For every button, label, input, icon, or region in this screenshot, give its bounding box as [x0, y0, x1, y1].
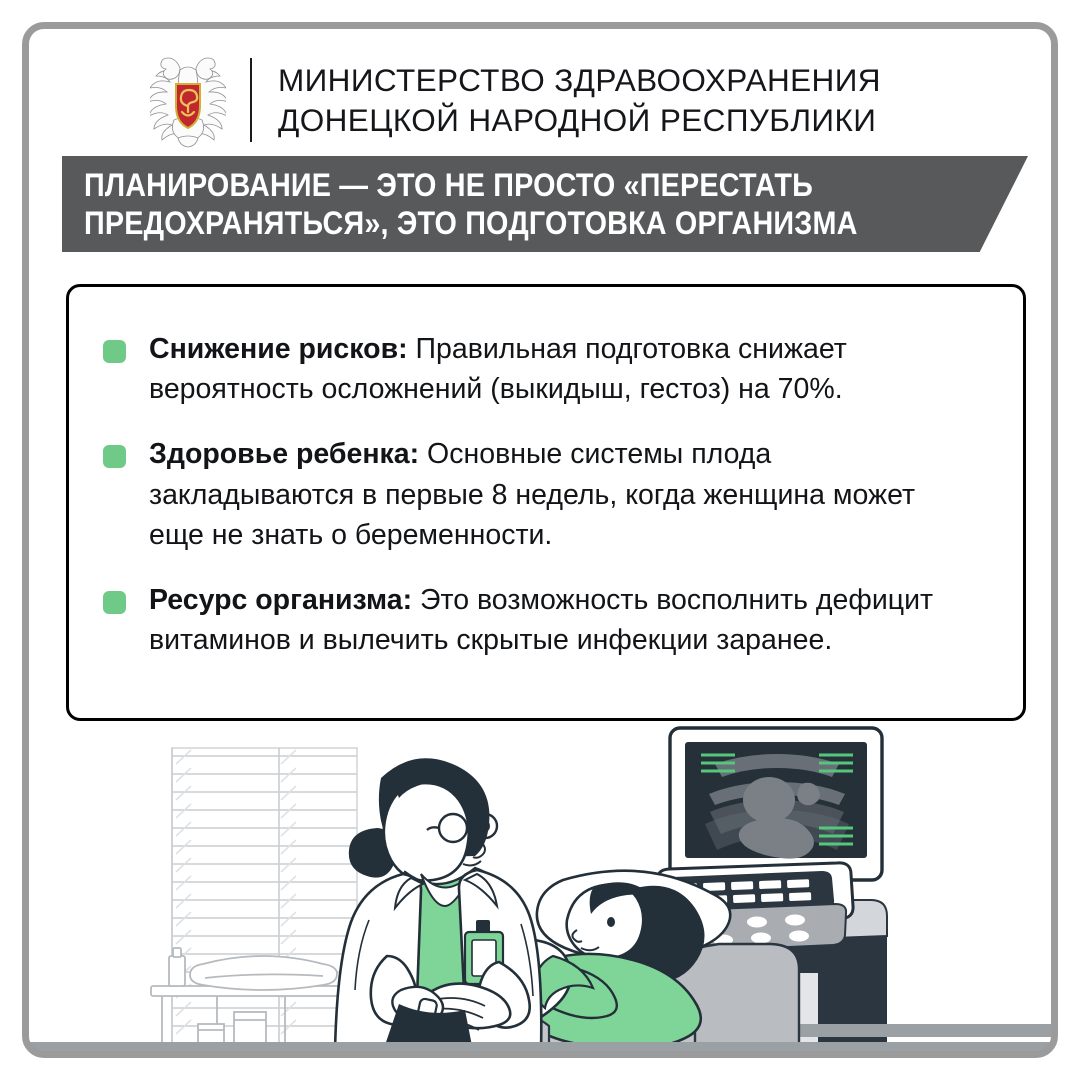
bullet-text: Ресурс организма: Это возможность воспол… [149, 580, 977, 660]
bullet-item: Ресурс организма: Это возможность воспол… [103, 580, 977, 660]
content-box: Снижение рисков: Правильная подготовка с… [66, 284, 1026, 721]
bullet-text: Здоровье ребенка: Основные системы плода… [149, 434, 977, 555]
bullet-lead: Ресурс организма: [149, 584, 412, 616]
headline-banner: ПЛАНИРОВАНИЕ — ЭТО НЕ ПРОСТО «ПЕРЕСТАТЬ … [62, 156, 1028, 252]
header-title-line1: МИНИСТЕРСТВО ЗДРАВООХРАНЕНИЯ [278, 61, 881, 99]
window-blinds-graphic [172, 748, 357, 1048]
bullet-square-icon [103, 445, 126, 468]
doctor-figure-graphic [335, 758, 541, 1051]
bullet-square-icon [103, 591, 126, 614]
header-divider [250, 58, 252, 142]
bullet-square-icon [103, 340, 126, 363]
illustration [29, 724, 1051, 1051]
poster-root: МИНИСТЕРСТВО ЗДРАВООХРАНЕНИЯ ДОНЕЦКОЙ НА… [0, 0, 1080, 1080]
ministry-emblem-icon [150, 50, 226, 150]
bullet-text: Снижение рисков: Правильная подготовка с… [149, 329, 977, 409]
bullet-item: Здоровье ребенка: Основные системы плода… [103, 434, 977, 555]
bullet-lead: Здоровье ребенка: [149, 438, 419, 470]
header: МИНИСТЕРСТВО ЗДРАВООХРАНЕНИЯ ДОНЕЦКОЙ НА… [150, 44, 881, 156]
floor-line [29, 1042, 1051, 1051]
headline-line2: ПРЕДОХРАНЯТЬСЯ», ЭТО ПОДГОТОВКА ОРГАНИЗМ… [84, 204, 919, 242]
header-title-line2: ДОНЕЦКОЙ НАРОДНОЙ РЕСПУБЛИКИ [278, 101, 881, 139]
bullet-item: Снижение рисков: Правильная подготовка с… [103, 329, 977, 409]
header-title: МИНИСТЕРСТВО ЗДРАВООХРАНЕНИЯ ДОНЕЦКОЙ НА… [278, 61, 881, 139]
headline-line1: ПЛАНИРОВАНИЕ — ЭТО НЕ ПРОСТО «ПЕРЕСТАТЬ [84, 166, 919, 204]
bullet-lead: Снижение рисков: [149, 333, 408, 365]
